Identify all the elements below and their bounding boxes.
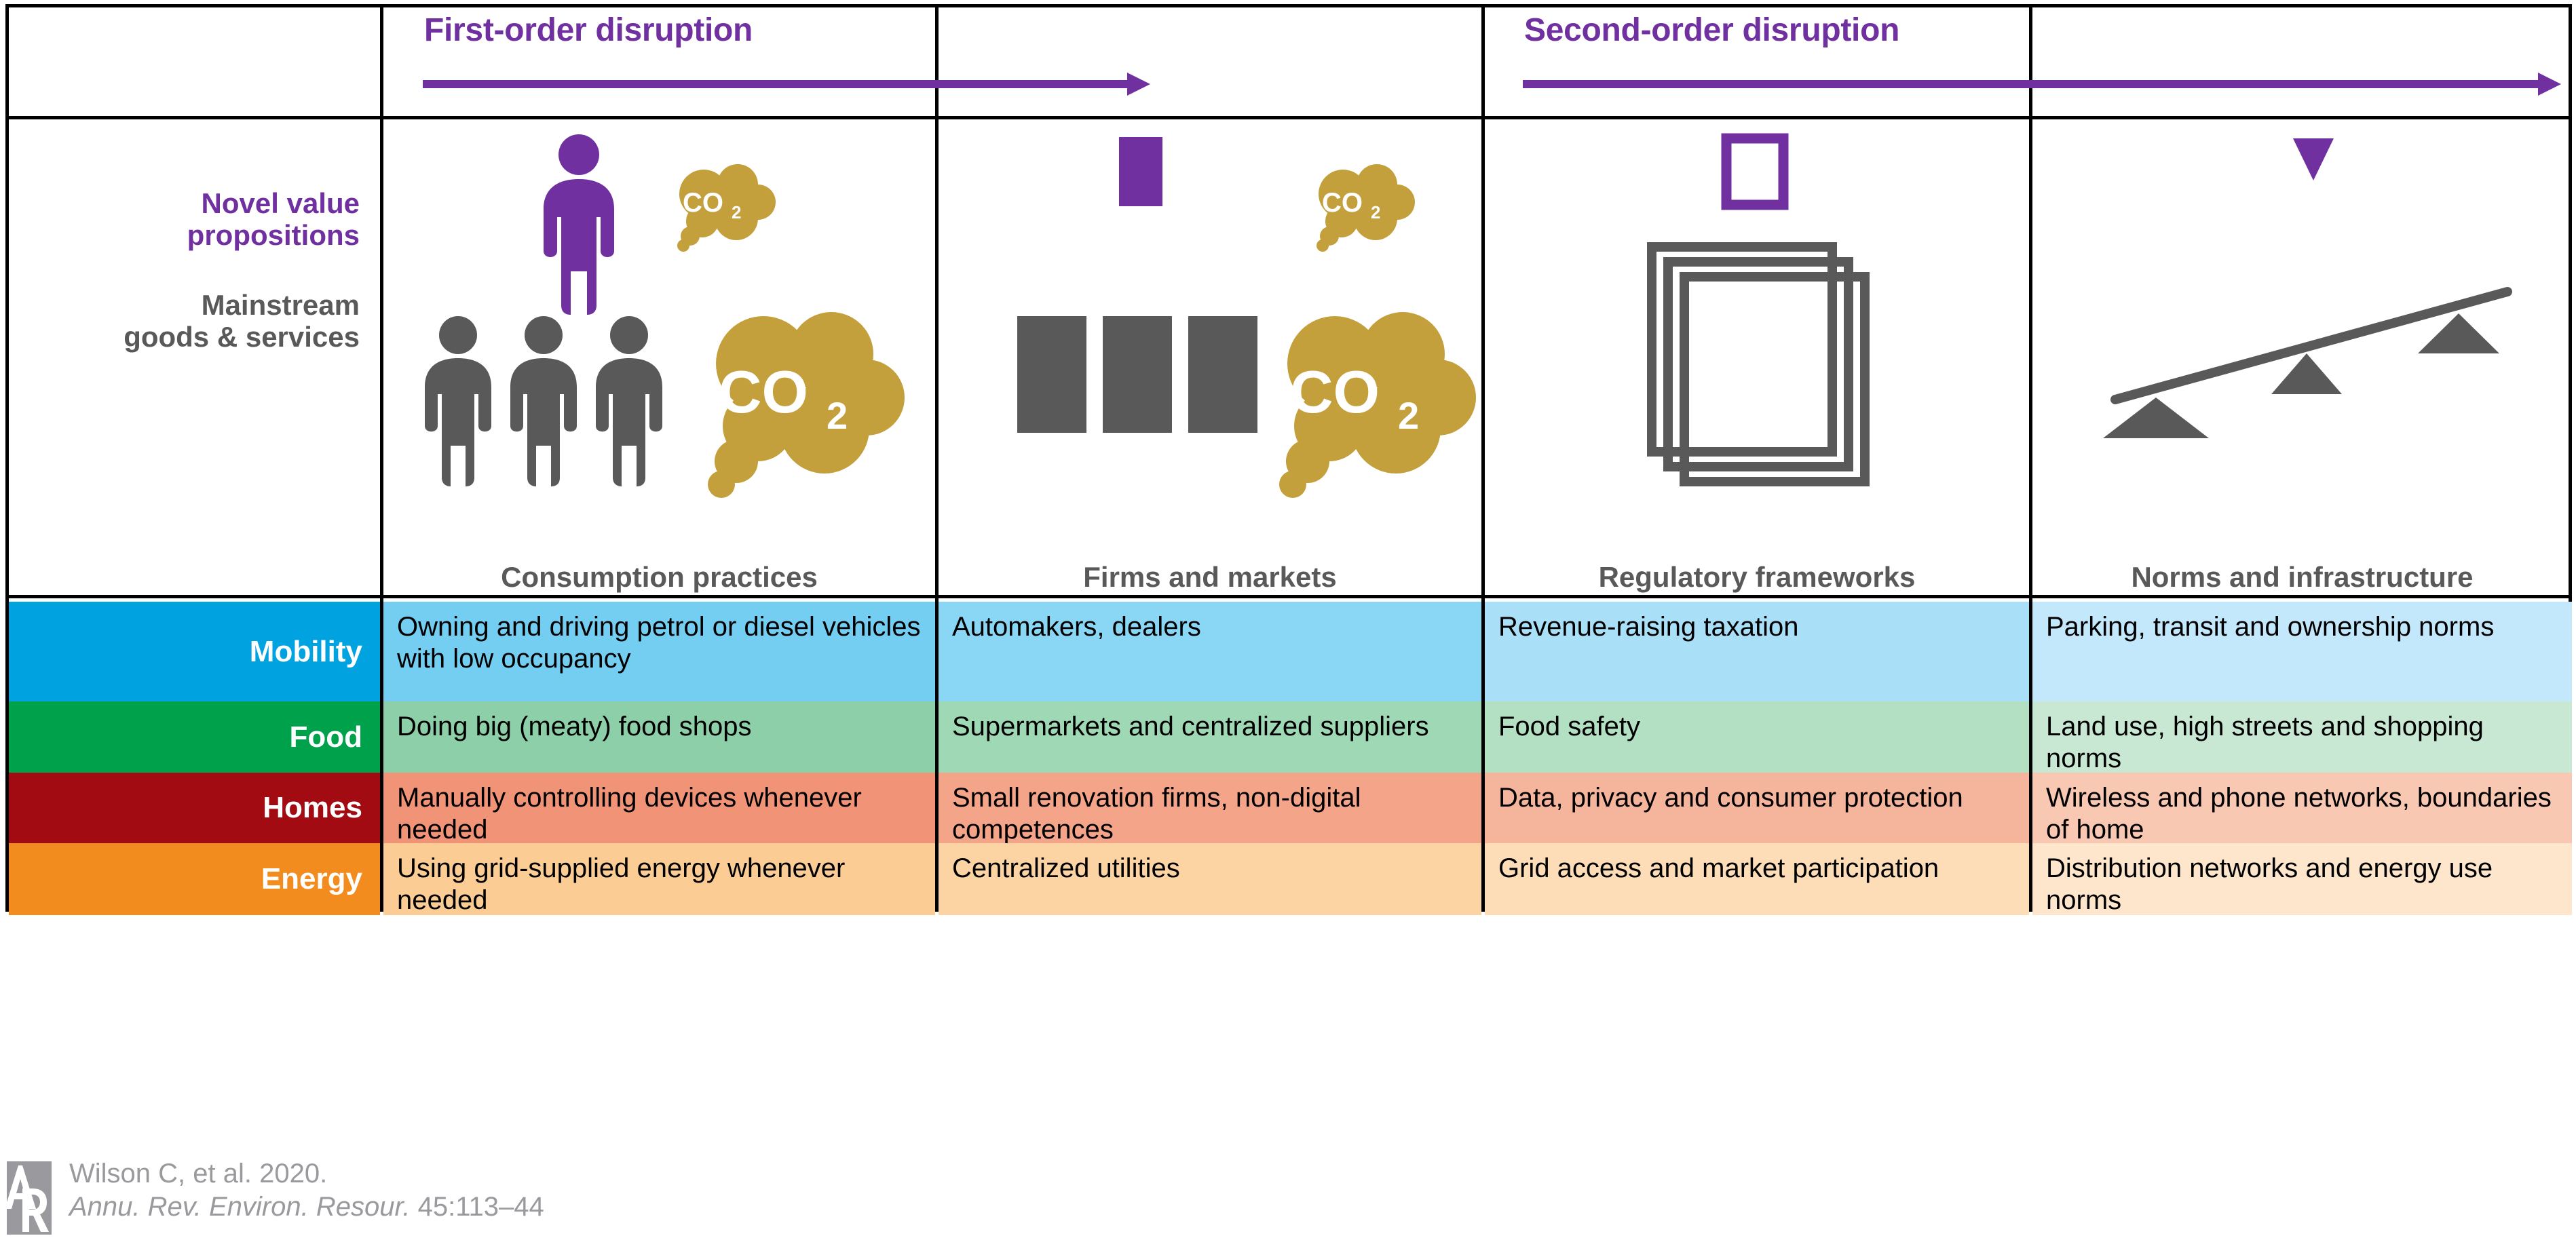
arrow-head-icon bbox=[2538, 73, 2561, 96]
svg-text:CO: CO bbox=[719, 358, 808, 425]
firms-and-markets-artwork: CO 2 bbox=[939, 119, 1481, 540]
svg-text:2: 2 bbox=[827, 394, 848, 437]
svg-text:2: 2 bbox=[1398, 394, 1419, 437]
norms-infrastructure-artwork bbox=[2032, 119, 2572, 540]
person-novel-icon bbox=[544, 134, 614, 315]
second-order-disruption-title: Second-order disruption bbox=[1524, 12, 1899, 49]
first-order-disruption-header: First-order disruption bbox=[383, 7, 1298, 116]
cell-mobility-consumption: Owning and driving petrol or diesel vehi… bbox=[383, 602, 935, 701]
cell-food-consumption: Doing big (meaty) food shops bbox=[383, 701, 935, 773]
column-caption-firms: Firms and markets bbox=[939, 561, 1481, 594]
cell-homes-firms: Small renovation firms, non-digital comp… bbox=[939, 773, 1481, 843]
arrow-shaft bbox=[423, 80, 1127, 88]
annual-reviews-logo bbox=[7, 1161, 52, 1235]
figure-footer: Wilson C, et al. 2020. Annu. Rev. Enviro… bbox=[7, 1153, 821, 1255]
icon-cell-regulatory: Regulatory frameworks bbox=[1485, 119, 2029, 602]
novel-line-1: Novel value bbox=[88, 187, 360, 219]
mainstream-goods-services-label: Mainstream goods & services bbox=[68, 289, 360, 353]
cell-homes-consumption: Manually controlling devices whenever ne… bbox=[383, 773, 935, 843]
cell-food-regulatory: Food safety bbox=[1485, 701, 2029, 773]
table-row: Energy Using grid-supplied energy whenev… bbox=[9, 843, 2569, 915]
row-label-text: Energy bbox=[261, 862, 380, 896]
svg-text:CO: CO bbox=[683, 188, 723, 218]
cell-food-norms: Land use, high streets and shopping norm… bbox=[2032, 701, 2572, 773]
icon-cell-consumption: CO 2 bbox=[383, 119, 935, 602]
arrow-head-icon bbox=[1127, 73, 1150, 96]
person-mainstream-icon bbox=[425, 316, 491, 486]
firm-mainstream-icon bbox=[1017, 316, 1086, 433]
disruption-header-band: First-order disruption Second-order disr… bbox=[9, 7, 2569, 116]
novel-line-2: propositions bbox=[88, 219, 360, 251]
cell-energy-consumption: Using grid-supplied energy whenever need… bbox=[383, 843, 935, 915]
firm-mainstream-icon bbox=[1188, 316, 1257, 433]
co2-small-icon: CO 2 bbox=[1317, 164, 1415, 252]
second-order-disruption-header: Second-order disruption bbox=[1485, 7, 2571, 116]
column-caption-consumption: Consumption practices bbox=[383, 561, 935, 594]
cell-food-firms: Supermarkets and centralized suppliers bbox=[939, 701, 1481, 773]
regulatory-frameworks-artwork bbox=[1485, 119, 2029, 540]
norm-mainstream-icon bbox=[2103, 398, 2209, 438]
firm-novel-icon bbox=[1119, 137, 1162, 206]
row-label-homes: Homes bbox=[9, 773, 380, 843]
consumption-practices-artwork: CO 2 bbox=[383, 119, 935, 540]
icon-band: Novel value propositions Mainstream good… bbox=[9, 119, 2569, 602]
table-row: Homes Manually controlling devices whene… bbox=[9, 773, 2569, 843]
citation-journal: Annu. Rev. Environ. Resour. bbox=[69, 1192, 410, 1222]
table-row: Mobility Owning and driving petrol or di… bbox=[9, 602, 2569, 701]
person-mainstream-icon bbox=[510, 316, 577, 486]
citation-pages: 45:113–44 bbox=[410, 1192, 544, 1222]
axis-labels: Novel value propositions Mainstream good… bbox=[9, 119, 380, 602]
cell-homes-norms: Wireless and phone networks, boundaries … bbox=[2032, 773, 2572, 843]
figure-grid: First-order disruption Second-order disr… bbox=[5, 4, 2572, 912]
citation-source: Annu. Rev. Environ. Resour. 45:113–44 bbox=[69, 1191, 544, 1224]
row-label-energy: Energy bbox=[9, 843, 380, 915]
cell-energy-regulatory: Grid access and market participation bbox=[1485, 843, 2029, 915]
norm-novel-icon bbox=[2293, 138, 2334, 180]
co2-large-icon: CO 2 bbox=[1279, 312, 1476, 498]
icon-cell-norms: Norms and infrastructure bbox=[2032, 119, 2572, 602]
cell-energy-norms: Distribution networks and energy use nor… bbox=[2032, 843, 2572, 915]
firm-mainstream-icon bbox=[1103, 316, 1172, 433]
person-mainstream-icon bbox=[596, 316, 662, 486]
norm-mainstream-icon bbox=[2271, 353, 2342, 394]
svg-text:CO: CO bbox=[1290, 358, 1380, 425]
row-label-mobility: Mobility bbox=[9, 602, 380, 701]
data-rows-band: Mobility Owning and driving petrol or di… bbox=[9, 602, 2569, 912]
citation: Wilson C, et al. 2020. Annu. Rev. Enviro… bbox=[69, 1157, 544, 1224]
svg-text:2: 2 bbox=[1371, 202, 1380, 223]
cell-energy-firms: Centralized utilities bbox=[939, 843, 1481, 915]
cell-mobility-norms: Parking, transit and ownership norms bbox=[2032, 602, 2572, 701]
row-label-text: Mobility bbox=[250, 635, 380, 669]
row-label-food: Food bbox=[9, 701, 380, 773]
framework-novel-icon bbox=[1726, 138, 1783, 205]
framework-stack-icon bbox=[1652, 247, 1865, 482]
svg-text:2: 2 bbox=[732, 202, 741, 223]
table-row: Food Doing big (meaty) food shops Superm… bbox=[9, 701, 2569, 773]
column-caption-norms: Norms and infrastructure bbox=[2032, 561, 2572, 594]
co2-small-icon: CO 2 bbox=[677, 164, 776, 252]
svg-text:CO: CO bbox=[1322, 188, 1363, 218]
row-label-text: Food bbox=[289, 720, 380, 754]
first-order-arrow bbox=[423, 73, 1150, 96]
mainstream-line-1: Mainstream bbox=[68, 289, 360, 321]
row-label-text: Homes bbox=[263, 791, 380, 825]
icon-cell-firms: CO 2 bbox=[939, 119, 1481, 602]
norm-mainstream-icon bbox=[2418, 313, 2499, 353]
cell-mobility-regulatory: Revenue-raising taxation bbox=[1485, 602, 2029, 701]
first-order-disruption-title: First-order disruption bbox=[424, 12, 753, 49]
cell-mobility-firms: Automakers, dealers bbox=[939, 602, 1481, 701]
citation-authors: Wilson C, et al. 2020. bbox=[69, 1157, 544, 1191]
novel-value-propositions-label: Novel value propositions bbox=[88, 187, 360, 251]
column-caption-regulatory: Regulatory frameworks bbox=[1485, 561, 2029, 594]
mainstream-line-2: goods & services bbox=[68, 321, 360, 353]
arrow-shaft bbox=[1523, 80, 2538, 88]
figure-root: First-order disruption Second-order disr… bbox=[0, 0, 2576, 1257]
second-order-arrow bbox=[1523, 73, 2561, 96]
co2-large-icon: CO 2 bbox=[708, 312, 905, 498]
cell-homes-regulatory: Data, privacy and consumer protection bbox=[1485, 773, 2029, 843]
